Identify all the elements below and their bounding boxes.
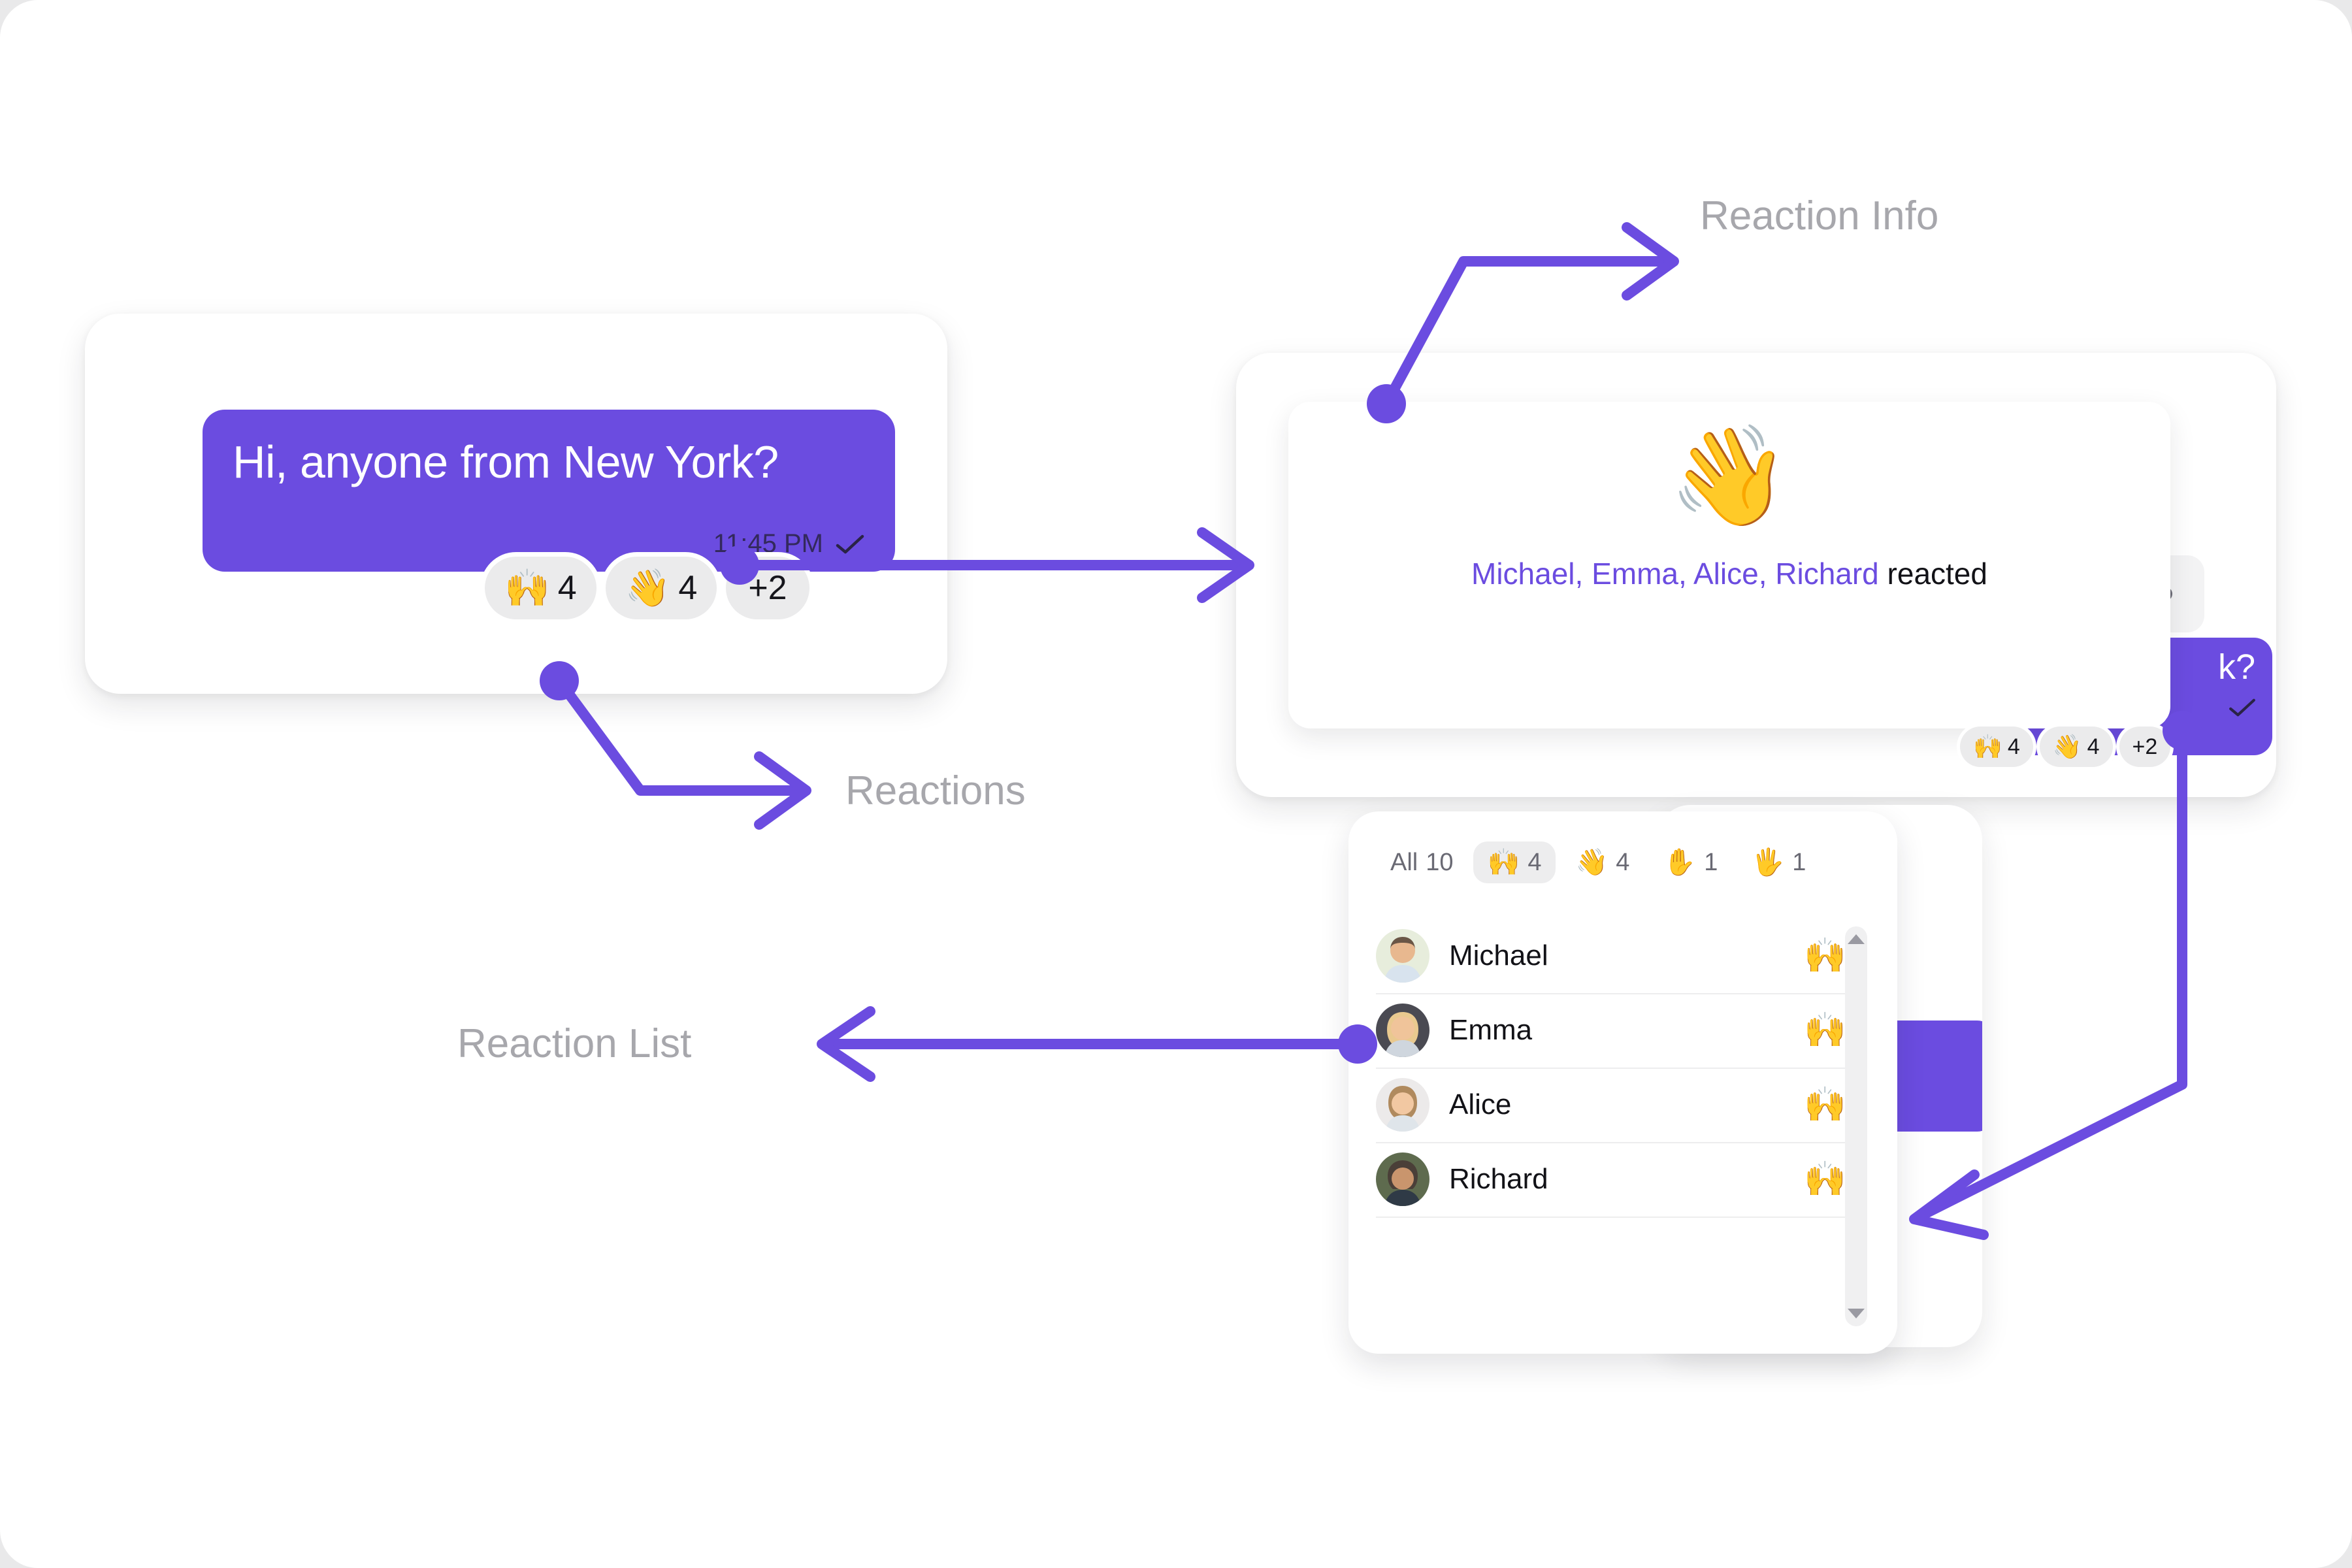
reaction-count: 4 (2008, 734, 2020, 760)
waving-hand-emoji: 👋 (2053, 735, 2082, 759)
reaction-info-scene: k? 👋 Michael, Emma, Alice, Richard react… (1236, 353, 2276, 797)
reaction-pill-waving-hand[interactable]: 👋 4 (2040, 727, 2113, 767)
chat-bubble-text: Hi, anyone from New York? (233, 436, 865, 488)
list-item[interactable]: Emma 🙌 (1376, 993, 1846, 1069)
tab-count: 1 (1792, 849, 1806, 877)
tab-count: 1 (1704, 849, 1718, 877)
background-bubble-text: k? (2218, 647, 2255, 687)
scrollbar[interactable] (1845, 926, 1867, 1326)
reaction-info-popup: 👋 Michael, Emma, Alice, Richard reacted (1288, 402, 2170, 728)
reaction-list-scene: York? 45 PM 4 +2 All (1348, 811, 2002, 1360)
reaction-filter-tabs: All 10 🙌 4 👋 4 ✋ 1 🖐 1 (1376, 841, 1820, 883)
reaction-pill-more[interactable]: +2 (726, 557, 809, 619)
list-item[interactable]: Alice 🙌 (1376, 1068, 1846, 1143)
scroll-up-arrow[interactable] (1848, 934, 1865, 944)
annotation-reactions: Reactions (845, 768, 1026, 814)
avatar (1376, 1004, 1429, 1057)
waving-hand-emoji: 👋 (1575, 849, 1608, 875)
bubble-meta: 11:45 PM (713, 529, 865, 559)
reactor-name: Michael (1449, 939, 1548, 972)
tab-label: All (1390, 849, 1418, 877)
tab-all[interactable]: All 10 (1376, 841, 1468, 883)
reaction-count: 4 (558, 568, 577, 608)
avatar (1376, 1152, 1429, 1206)
tab-hand-fingers-splayed[interactable]: 🖐 1 (1737, 841, 1820, 883)
wire-reactions (559, 681, 805, 791)
reaction-pill-more[interactable]: +2 (2119, 727, 2171, 767)
reactor-name: Emma (1449, 1014, 1532, 1047)
arrowhead-reaction-list (822, 1011, 870, 1077)
single-check-icon (2228, 698, 2257, 717)
tab-count: 10 (1426, 849, 1453, 877)
reaction-pill-row: 🙌 4 👋 4 +2 (485, 557, 809, 619)
raising-hands-emoji: 🙌 (1973, 735, 2002, 759)
tab-count: 4 (1616, 849, 1629, 877)
chat-bubble[interactable]: Hi, anyone from New York? 11:45 PM (203, 410, 895, 572)
reaction-info-text: Michael, Emma, Alice, Richard reacted (1288, 556, 2170, 591)
reaction-pill-raising-hands[interactable]: 🙌 4 (1960, 727, 2033, 767)
reaction-count: 4 (678, 568, 697, 608)
message-card: Hi, anyone from New York? 11:45 PM 🙌 4 👋… (85, 314, 947, 694)
message-timestamp: 11:45 PM (713, 529, 823, 559)
reaction-list-panel: All 10 🙌 4 👋 4 ✋ 1 🖐 1 (1348, 811, 1897, 1354)
raising-hands-emoji: 🙌 (1804, 1013, 1846, 1047)
more-reactions-count: +2 (2132, 734, 2158, 760)
tab-raised-hand[interactable]: ✋ 1 (1649, 841, 1732, 883)
reactor-name: Richard (1449, 1163, 1548, 1196)
waving-hand-emoji: 👋 (625, 570, 671, 606)
tab-waving-hand[interactable]: 👋 4 (1561, 841, 1644, 883)
avatar (1376, 1078, 1429, 1132)
raised-hand-emoji: ✋ (1663, 849, 1696, 875)
app-canvas: Hi, anyone from New York? 11:45 PM 🙌 4 👋… (0, 0, 2352, 1568)
annotation-reaction-list: Reaction List (457, 1021, 691, 1067)
reaction-count: 4 (2087, 734, 2100, 760)
raising-hands-emoji: 🙌 (1804, 1162, 1846, 1196)
tab-raising-hands[interactable]: 🙌 4 (1473, 841, 1556, 883)
tab-count: 4 (1527, 849, 1541, 877)
background-bubble-meta (2228, 698, 2257, 717)
arrowhead-reactions (759, 757, 806, 825)
reaction-pill-waving-hand[interactable]: 👋 4 (606, 557, 717, 619)
single-check-icon (835, 534, 865, 555)
hand-fingers-splayed-emoji: 🖐 (1752, 849, 1784, 875)
avatar (1376, 929, 1429, 983)
reacted-suffix: reacted (1879, 557, 1987, 591)
raising-hands-emoji: 🙌 (1804, 1088, 1846, 1122)
annotation-reaction-info: Reaction Info (1700, 193, 1938, 239)
raising-hands-emoji: 🙌 (1804, 939, 1846, 973)
scroll-down-arrow[interactable] (1848, 1309, 1865, 1318)
raising-hands-emoji: 🙌 (1488, 849, 1520, 875)
reaction-pill-row-small: 🙌 4 👋 4 +2 (1960, 727, 2170, 767)
list-item[interactable]: Richard 🙌 (1376, 1142, 1846, 1218)
more-reactions-count: +2 (748, 568, 787, 608)
waving-hand-emoji: 👋 (1288, 427, 2170, 525)
reactor-name: Alice (1449, 1088, 1511, 1121)
arrowhead-reaction-info (1627, 227, 1674, 295)
list-item[interactable]: Michael 🙌 (1376, 919, 1846, 994)
reaction-pill-raising-hands[interactable]: 🙌 4 (485, 557, 596, 619)
reactor-names: Michael, Emma, Alice, Richard (1471, 557, 1879, 591)
raising-hands-emoji: 🙌 (504, 570, 550, 606)
